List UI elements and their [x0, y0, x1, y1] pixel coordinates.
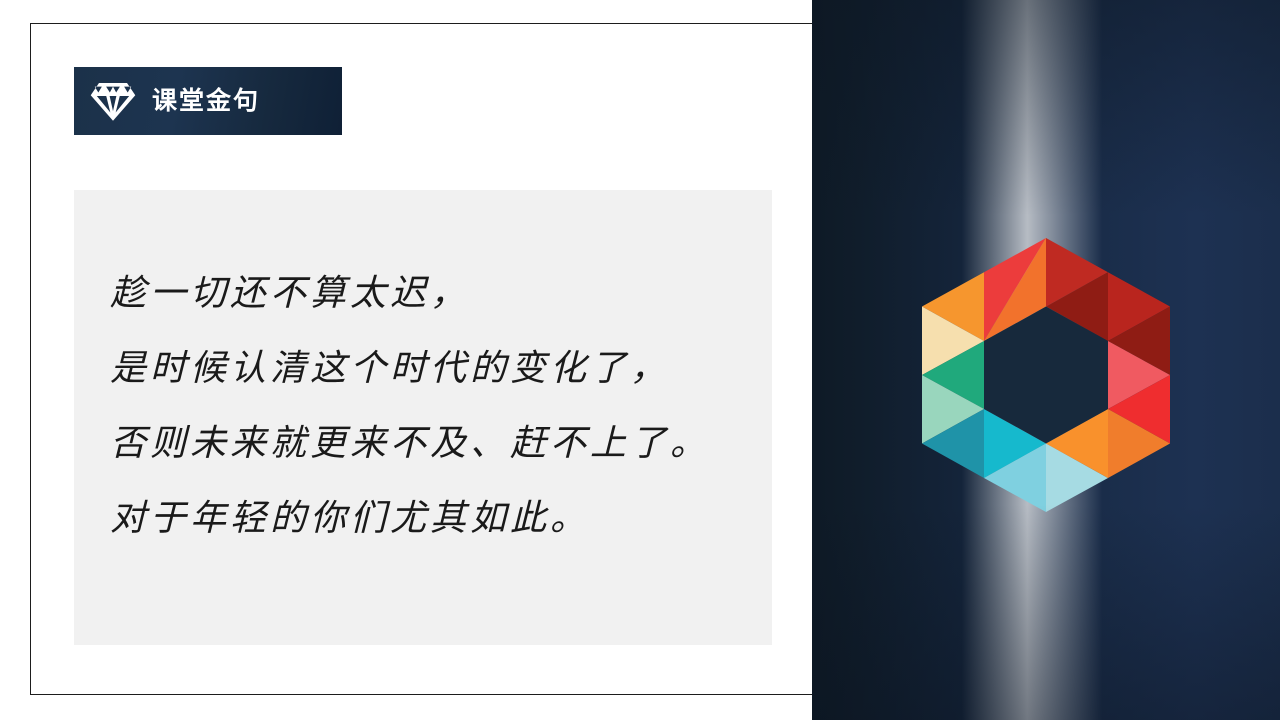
quote-line-4: 对于年轻的你们尤其如此。	[110, 481, 754, 556]
quote-line-1: 趁一切还不算太迟，	[110, 256, 754, 331]
quote-line-3: 否则未来就更来不及、赶不上了。	[110, 406, 754, 481]
quote-text-block: 趁一切还不算太迟， 是时候认清这个时代的变化了， 否则未来就更来不及、赶不上了。…	[110, 256, 754, 556]
quote-panel: 趁一切还不算太迟， 是时候认清这个时代的变化了， 否则未来就更来不及、赶不上了。…	[74, 190, 772, 645]
section-badge: 课堂金句	[74, 67, 342, 135]
diamond-icon	[90, 80, 136, 122]
quote-line-2: 是时候认清这个时代的变化了，	[110, 331, 754, 406]
slide-canvas: 课堂金句 趁一切还不算太迟， 是时候认清这个时代的变化了， 否则未来就更来不及、…	[0, 0, 1280, 720]
hexagon-ring-logo-svg	[922, 238, 1170, 512]
brand-logo	[922, 238, 1170, 512]
badge-title: 课堂金句	[152, 89, 260, 114]
right-dark-panel	[812, 0, 1280, 720]
